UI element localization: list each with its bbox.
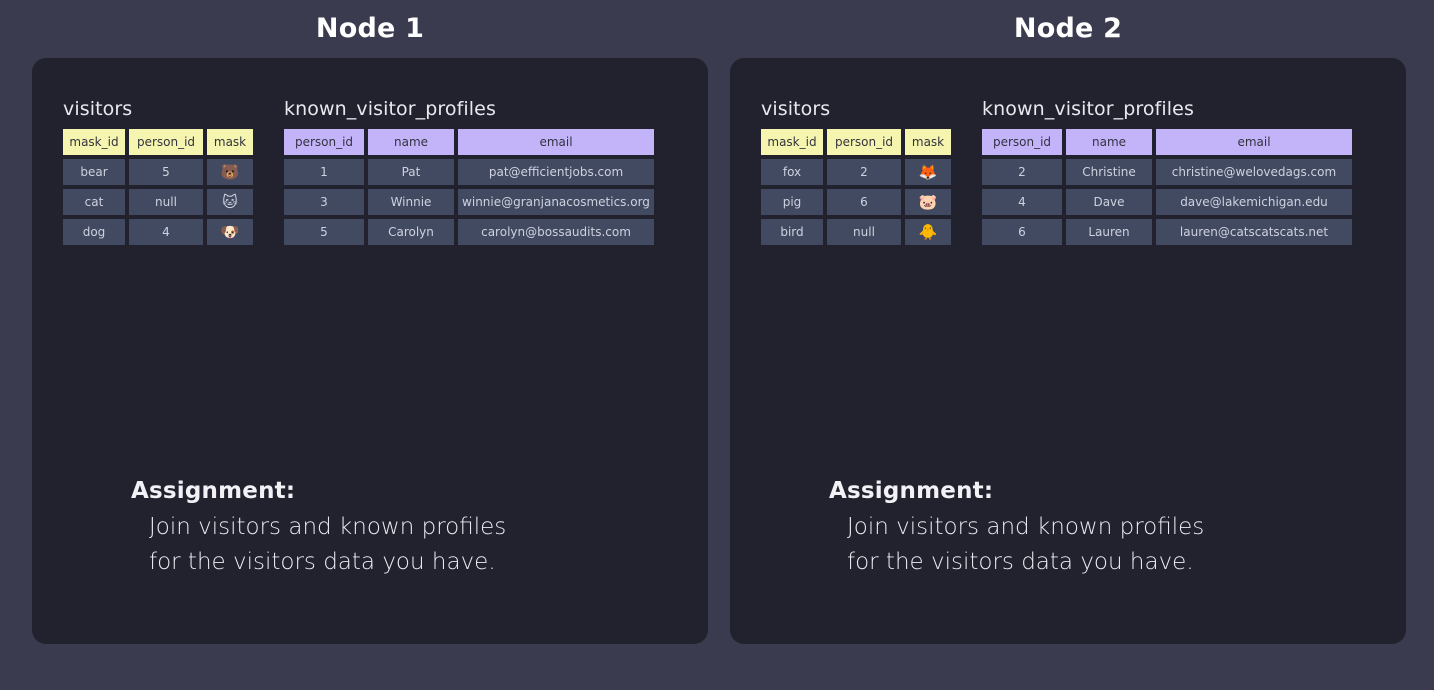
node-1-column: Node 1 visitors mask_id person_id mask b… xyxy=(32,0,708,656)
cell-email: carolyn@bossaudits.com xyxy=(458,219,654,245)
column-header-person-id: person_id xyxy=(129,129,203,155)
cell-person-id: 4 xyxy=(982,189,1062,215)
node-2-tables: visitors mask_id person_id mask fox 2 🦊 xyxy=(730,98,1406,338)
node-2-panel: visitors mask_id person_id mask fox 2 🦊 xyxy=(730,58,1406,644)
column-header-mask-id: mask_id xyxy=(761,129,823,155)
cell-person-id: 2 xyxy=(982,159,1062,185)
column-header-person-id: person_id xyxy=(284,129,364,155)
table-grid: mask_id person_id mask fox 2 🦊 pig 6 xyxy=(761,129,951,245)
cell-mask-id: bird xyxy=(761,219,823,245)
table-row: 3 Winnie winnie@granjanacosmetics.org xyxy=(284,189,654,215)
table-row: fox 2 🦊 xyxy=(761,159,951,185)
node-2-visitors-table: visitors mask_id person_id mask fox 2 🦊 xyxy=(761,98,951,245)
bear-face-icon: 🐻 xyxy=(207,159,253,185)
cell-mask-id: cat xyxy=(63,189,125,215)
node-2-column: Node 2 visitors mask_id person_id mask f… xyxy=(730,0,1406,656)
node-1-panel: visitors mask_id person_id mask bear 5 🐻 xyxy=(32,58,708,644)
cell-person-id: 6 xyxy=(982,219,1062,245)
cell-name: Carolyn xyxy=(368,219,454,245)
cell-email: dave@lakemichigan.edu xyxy=(1156,189,1352,215)
cell-person-id: 5 xyxy=(284,219,364,245)
assignment-text: Join visitors and known profiles for the… xyxy=(149,510,506,580)
node-1-visitors-table: visitors mask_id person_id mask bear 5 🐻 xyxy=(63,98,253,245)
node-1-assignment: Assignment: Join visitors and known prof… xyxy=(131,478,506,580)
cell-person-id: 1 xyxy=(284,159,364,185)
cell-email: christine@welovedags.com xyxy=(1156,159,1352,185)
table-row: 2 Christine christine@welovedags.com xyxy=(982,159,1352,185)
cell-mask-id: dog xyxy=(63,219,125,245)
node-1-profiles-table: known_visitor_profiles person_id name em… xyxy=(284,98,654,245)
cell-person-id: 6 xyxy=(827,189,901,215)
table-title: visitors xyxy=(63,98,253,120)
cell-mask-id: fox xyxy=(761,159,823,185)
cell-person-id: null xyxy=(827,219,901,245)
pig-face-icon: 🐷 xyxy=(905,189,951,215)
column-header-name: name xyxy=(1066,129,1152,155)
table-row: cat null 🐱 xyxy=(63,189,253,215)
dog-face-icon: 🐶 xyxy=(207,219,253,245)
cell-email: pat@efficientjobs.com xyxy=(458,159,654,185)
table-header-row: mask_id person_id mask xyxy=(761,129,951,155)
table-grid: person_id name email 2 Christine christi… xyxy=(982,129,1352,245)
cell-name: Christine xyxy=(1066,159,1152,185)
cell-mask-id: bear xyxy=(63,159,125,185)
table-grid: mask_id person_id mask bear 5 🐻 cat null xyxy=(63,129,253,245)
table-header-row: person_id name email xyxy=(982,129,1352,155)
assignment-line: Join visitors and known profiles xyxy=(847,510,1204,545)
table-row: 6 Lauren lauren@catscatscats.net xyxy=(982,219,1352,245)
table-row: pig 6 🐷 xyxy=(761,189,951,215)
table-row: bear 5 🐻 xyxy=(63,159,253,185)
table-title: known_visitor_profiles xyxy=(982,98,1352,120)
column-header-person-id: person_id xyxy=(827,129,901,155)
table-grid: person_id name email 1 Pat pat@efficient… xyxy=(284,129,654,245)
cell-person-id: 3 xyxy=(284,189,364,215)
node-2-title: Node 2 xyxy=(730,0,1406,58)
assignment-text: Join visitors and known profiles for the… xyxy=(847,510,1204,580)
column-header-name: name xyxy=(368,129,454,155)
table-header-row: person_id name email xyxy=(284,129,654,155)
cell-person-id: null xyxy=(129,189,203,215)
cell-name: Pat xyxy=(368,159,454,185)
table-title: known_visitor_profiles xyxy=(284,98,654,120)
assignment-line: for the visitors data you have. xyxy=(149,545,506,580)
cell-email: winnie@granjanacosmetics.org xyxy=(458,189,654,215)
column-header-person-id: person_id xyxy=(982,129,1062,155)
cell-email: lauren@catscatscats.net xyxy=(1156,219,1352,245)
node-2-assignment: Assignment: Join visitors and known prof… xyxy=(829,478,1204,580)
cell-name: Lauren xyxy=(1066,219,1152,245)
table-row: bird null 🐥 xyxy=(761,219,951,245)
table-row: 5 Carolyn carolyn@bossaudits.com xyxy=(284,219,654,245)
cell-person-id: 5 xyxy=(129,159,203,185)
cell-name: Winnie xyxy=(368,189,454,215)
table-row: 4 Dave dave@lakemichigan.edu xyxy=(982,189,1352,215)
column-header-email: email xyxy=(1156,129,1352,155)
assignment-label: Assignment: xyxy=(131,478,506,504)
node-2-profiles-table: known_visitor_profiles person_id name em… xyxy=(982,98,1352,245)
table-title: visitors xyxy=(761,98,951,120)
node-1-title: Node 1 xyxy=(32,0,708,58)
assignment-line: for the visitors data you have. xyxy=(847,545,1204,580)
column-header-email: email xyxy=(458,129,654,155)
column-header-mask: mask xyxy=(207,129,253,155)
cell-person-id: 4 xyxy=(129,219,203,245)
column-header-mask: mask xyxy=(905,129,951,155)
table-row: dog 4 🐶 xyxy=(63,219,253,245)
fox-face-icon: 🦊 xyxy=(905,159,951,185)
assignment-line: Join visitors and known profiles xyxy=(149,510,506,545)
cell-person-id: 2 xyxy=(827,159,901,185)
column-header-mask-id: mask_id xyxy=(63,129,125,155)
assignment-label: Assignment: xyxy=(829,478,1204,504)
cell-mask-id: pig xyxy=(761,189,823,215)
baby-chick-icon: 🐥 xyxy=(905,219,951,245)
cat-face-icon: 🐱 xyxy=(207,189,253,215)
table-header-row: mask_id person_id mask xyxy=(63,129,253,155)
node-1-tables: visitors mask_id person_id mask bear 5 🐻 xyxy=(32,98,708,338)
table-row: 1 Pat pat@efficientjobs.com xyxy=(284,159,654,185)
cell-name: Dave xyxy=(1066,189,1152,215)
slide-canvas: Node 1 visitors mask_id person_id mask b… xyxy=(0,0,1434,690)
